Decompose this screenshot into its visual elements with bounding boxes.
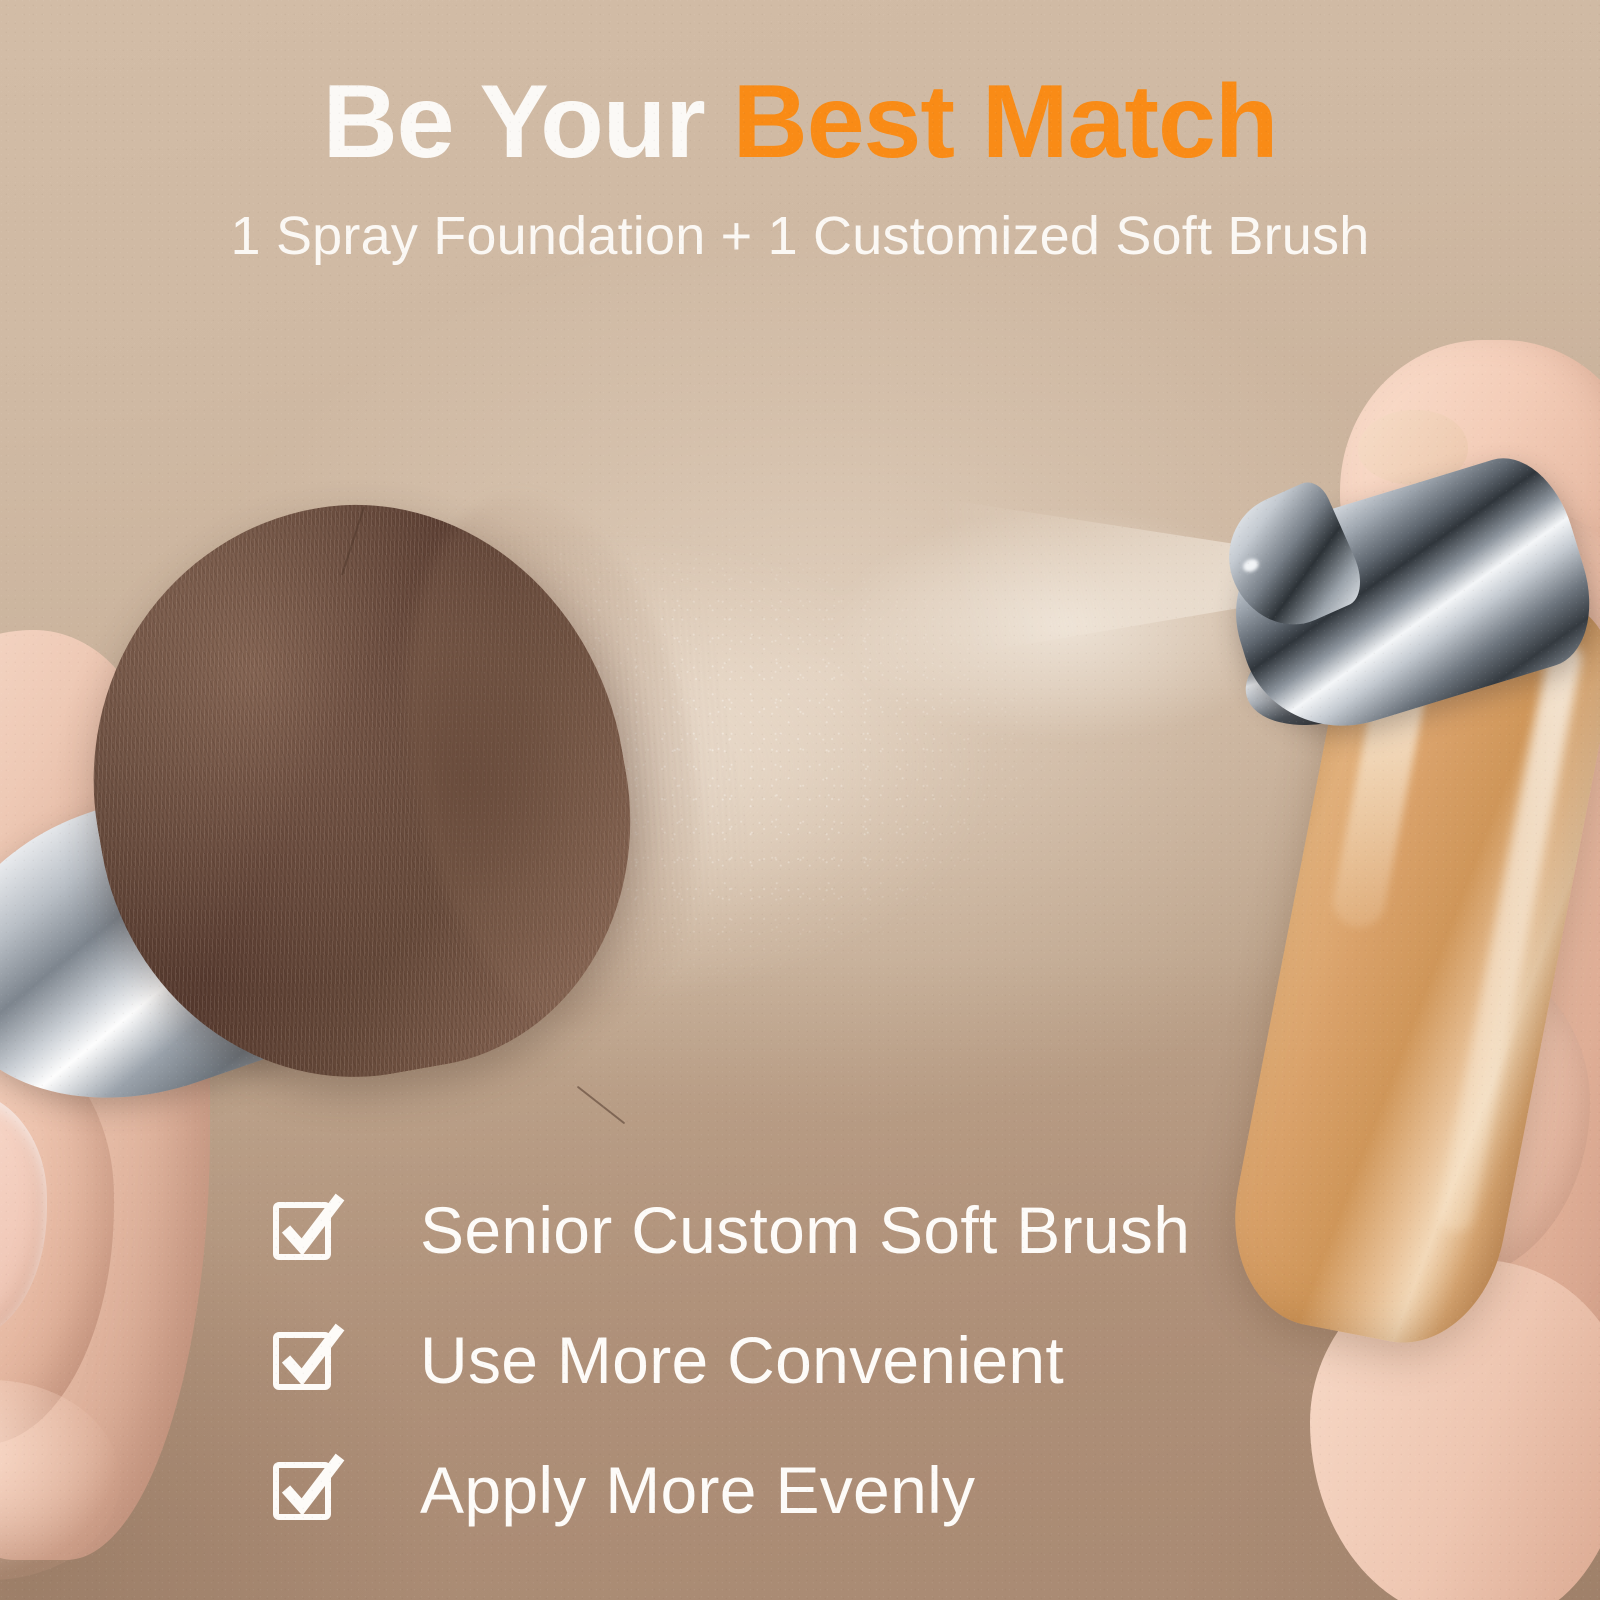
feature-list-item: Senior Custom Soft Brush bbox=[272, 1165, 1422, 1295]
bottle-highlight-right bbox=[1436, 639, 1584, 1234]
nozzle-orifice bbox=[1241, 557, 1260, 574]
checkbox-checked-icon bbox=[272, 1325, 342, 1395]
headline-accent-text: Best Match bbox=[733, 64, 1278, 180]
poster-subtitle: 1 Spray Foundation + 1 Customized Soft B… bbox=[0, 208, 1600, 265]
product-marketing-poster: Be Your Best Match 1 Spray Foundation + … bbox=[0, 0, 1600, 1600]
headline-primary-text: Be Your bbox=[323, 64, 733, 180]
feature-list: Senior Custom Soft Brush Use More Conven… bbox=[272, 1165, 1422, 1555]
checkbox-checked-icon bbox=[272, 1195, 342, 1265]
feature-label: Senior Custom Soft Brush bbox=[420, 1197, 1190, 1263]
feature-list-item: Apply More Evenly bbox=[272, 1425, 1422, 1555]
feature-label: Use More Convenient bbox=[420, 1327, 1064, 1393]
checkbox-checked-icon bbox=[272, 1455, 342, 1525]
poster-headline: Be Your Best Match bbox=[0, 70, 1600, 174]
feature-list-item: Use More Convenient bbox=[272, 1295, 1422, 1425]
feature-label: Apply More Evenly bbox=[420, 1457, 975, 1523]
